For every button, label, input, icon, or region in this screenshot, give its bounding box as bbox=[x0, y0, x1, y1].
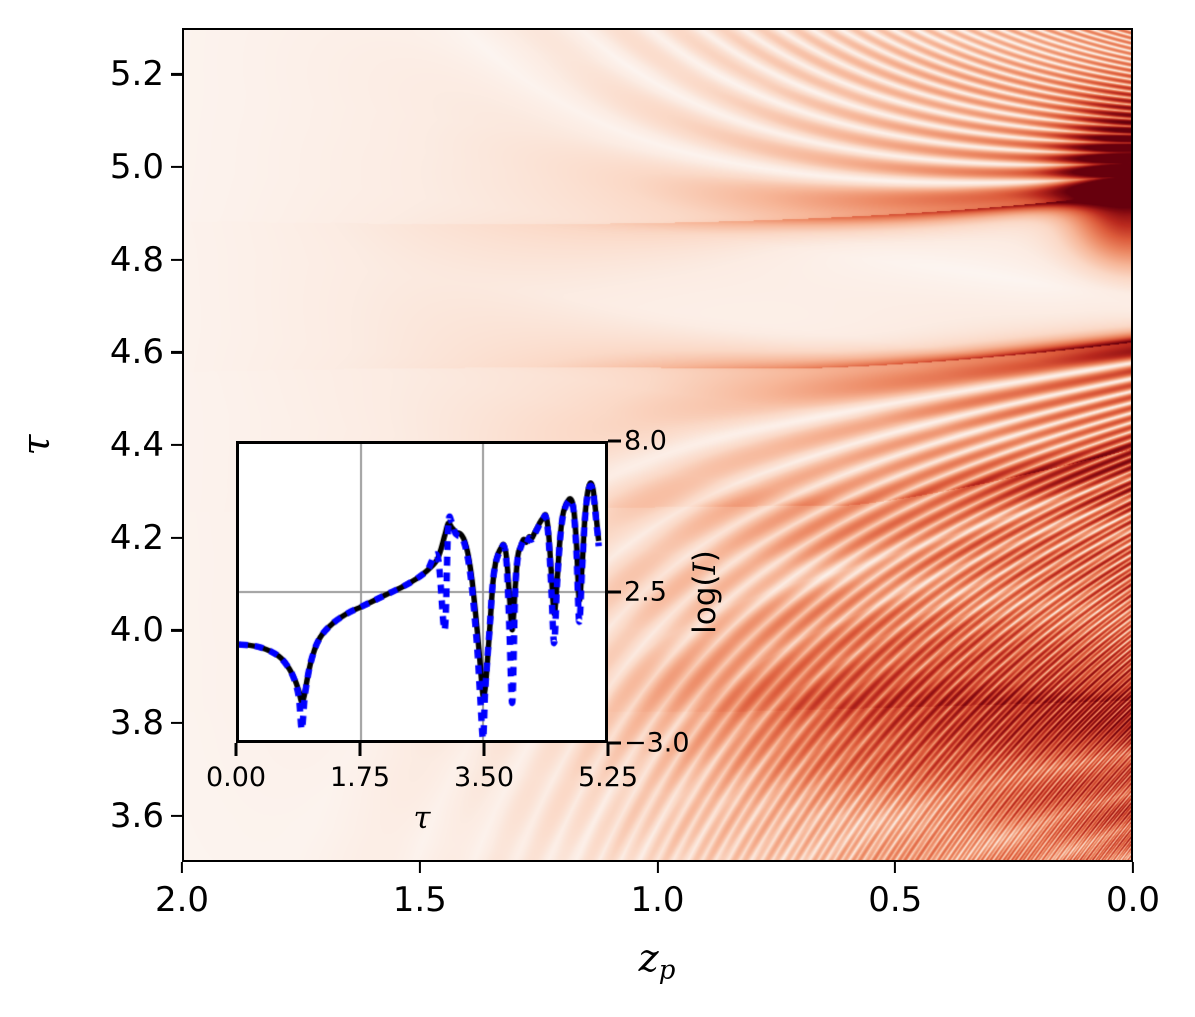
inset-y-tick-label: 2.5 bbox=[624, 577, 667, 608]
inset-y-tick-label: 8.0 bbox=[624, 426, 667, 457]
inset-line-chart-canvas bbox=[239, 444, 605, 740]
inset-y-label-prefix: log( bbox=[687, 575, 723, 634]
main-x-tick-mark bbox=[1132, 862, 1134, 873]
inset-plot-axes bbox=[236, 441, 608, 743]
main-y-tick-mark bbox=[171, 537, 182, 539]
main-y-tick-label: 4.2 bbox=[110, 518, 164, 558]
inset-y-label-symbol: I bbox=[687, 562, 723, 574]
main-y-tick-label: 4.0 bbox=[110, 610, 164, 650]
inset-y-label-suffix: ) bbox=[687, 550, 723, 562]
inset-x-axis-label: τ bbox=[413, 800, 430, 836]
inset-x-tick-label: 1.75 bbox=[330, 762, 390, 793]
main-x-axis-label: zp bbox=[639, 936, 676, 985]
main-y-tick-mark bbox=[171, 629, 182, 631]
main-y-tick-label: 5.0 bbox=[110, 147, 164, 187]
main-y-tick-label: 3.8 bbox=[110, 703, 164, 743]
main-y-axis-label: τ bbox=[14, 434, 58, 455]
inset-y-axis-label: log(I) bbox=[687, 550, 723, 634]
main-x-tick-label: 1.5 bbox=[393, 880, 447, 920]
main-y-tick-label: 4.8 bbox=[110, 240, 164, 280]
inset-y-tick-mark bbox=[608, 440, 621, 443]
inset-y-tick-label: −3.0 bbox=[624, 728, 690, 759]
main-y-tick-mark bbox=[171, 444, 182, 446]
main-y-tick-mark bbox=[171, 815, 182, 817]
main-x-tick-label: 2.0 bbox=[155, 880, 209, 920]
main-y-tick-label: 4.4 bbox=[110, 425, 164, 465]
inset-x-tick-mark bbox=[483, 743, 486, 756]
main-x-tick-label: 1.0 bbox=[630, 880, 684, 920]
main-y-tick-mark bbox=[171, 166, 182, 168]
main-y-tick-mark bbox=[171, 73, 182, 75]
inset-x-tick-label: 5.25 bbox=[578, 762, 638, 793]
main-x-axis-ticks: 2.01.51.00.50.0 bbox=[182, 862, 1133, 922]
main-y-tick-mark bbox=[171, 351, 182, 353]
main-y-tick-mark bbox=[171, 722, 182, 724]
inset-y-tick-mark bbox=[608, 591, 621, 594]
inset-x-tick-label: 3.50 bbox=[454, 762, 514, 793]
main-x-axis-label-subscript: p bbox=[659, 955, 676, 985]
figure-root: 5.25.04.84.64.44.24.03.83.6 2.01.51.00.5… bbox=[0, 0, 1195, 1017]
inset-y-tick-mark bbox=[608, 742, 621, 745]
main-y-tick-label: 4.6 bbox=[110, 332, 164, 372]
main-y-tick-label: 3.6 bbox=[110, 796, 164, 836]
main-x-tick-label: 0.0 bbox=[1106, 880, 1160, 920]
main-x-tick-label: 0.5 bbox=[868, 880, 922, 920]
main-x-tick-mark bbox=[894, 862, 896, 873]
main-x-tick-mark bbox=[419, 862, 421, 873]
inset-x-tick-mark bbox=[359, 743, 362, 756]
main-y-tick-label: 5.2 bbox=[110, 54, 164, 94]
inset-x-tick-label: 0.00 bbox=[206, 762, 266, 793]
main-x-axis-label-base: z bbox=[639, 936, 659, 980]
main-y-tick-mark bbox=[171, 259, 182, 261]
inset-x-tick-mark bbox=[235, 743, 238, 756]
inset-x-tick-mark bbox=[607, 743, 610, 756]
main-x-tick-mark bbox=[181, 862, 183, 873]
main-x-tick-mark bbox=[656, 862, 658, 873]
